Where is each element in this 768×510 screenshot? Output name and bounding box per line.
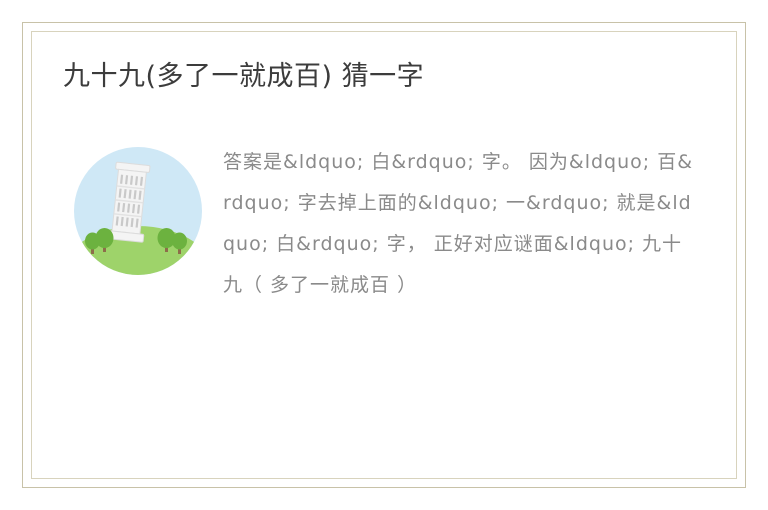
article-body: 答案是&ldquo; 白&rdquo; 字。 因为&ldquo; 百&rdquo… bbox=[63, 142, 705, 305]
page-title: 九十九(多了一就成百) 猜一字 bbox=[63, 59, 705, 94]
page-root: 九十九(多了一就成百) 猜一字 bbox=[0, 0, 768, 510]
illustration-container bbox=[63, 142, 213, 276]
leaning-tower-illustration bbox=[73, 146, 203, 276]
answer-text: 答案是&ldquo; 白&rdquo; 字。 因为&ldquo; 百&rdquo… bbox=[213, 142, 705, 305]
content-area: 九十九(多了一就成百) 猜一字 bbox=[31, 31, 737, 479]
leaning-tower-icon bbox=[73, 146, 203, 276]
